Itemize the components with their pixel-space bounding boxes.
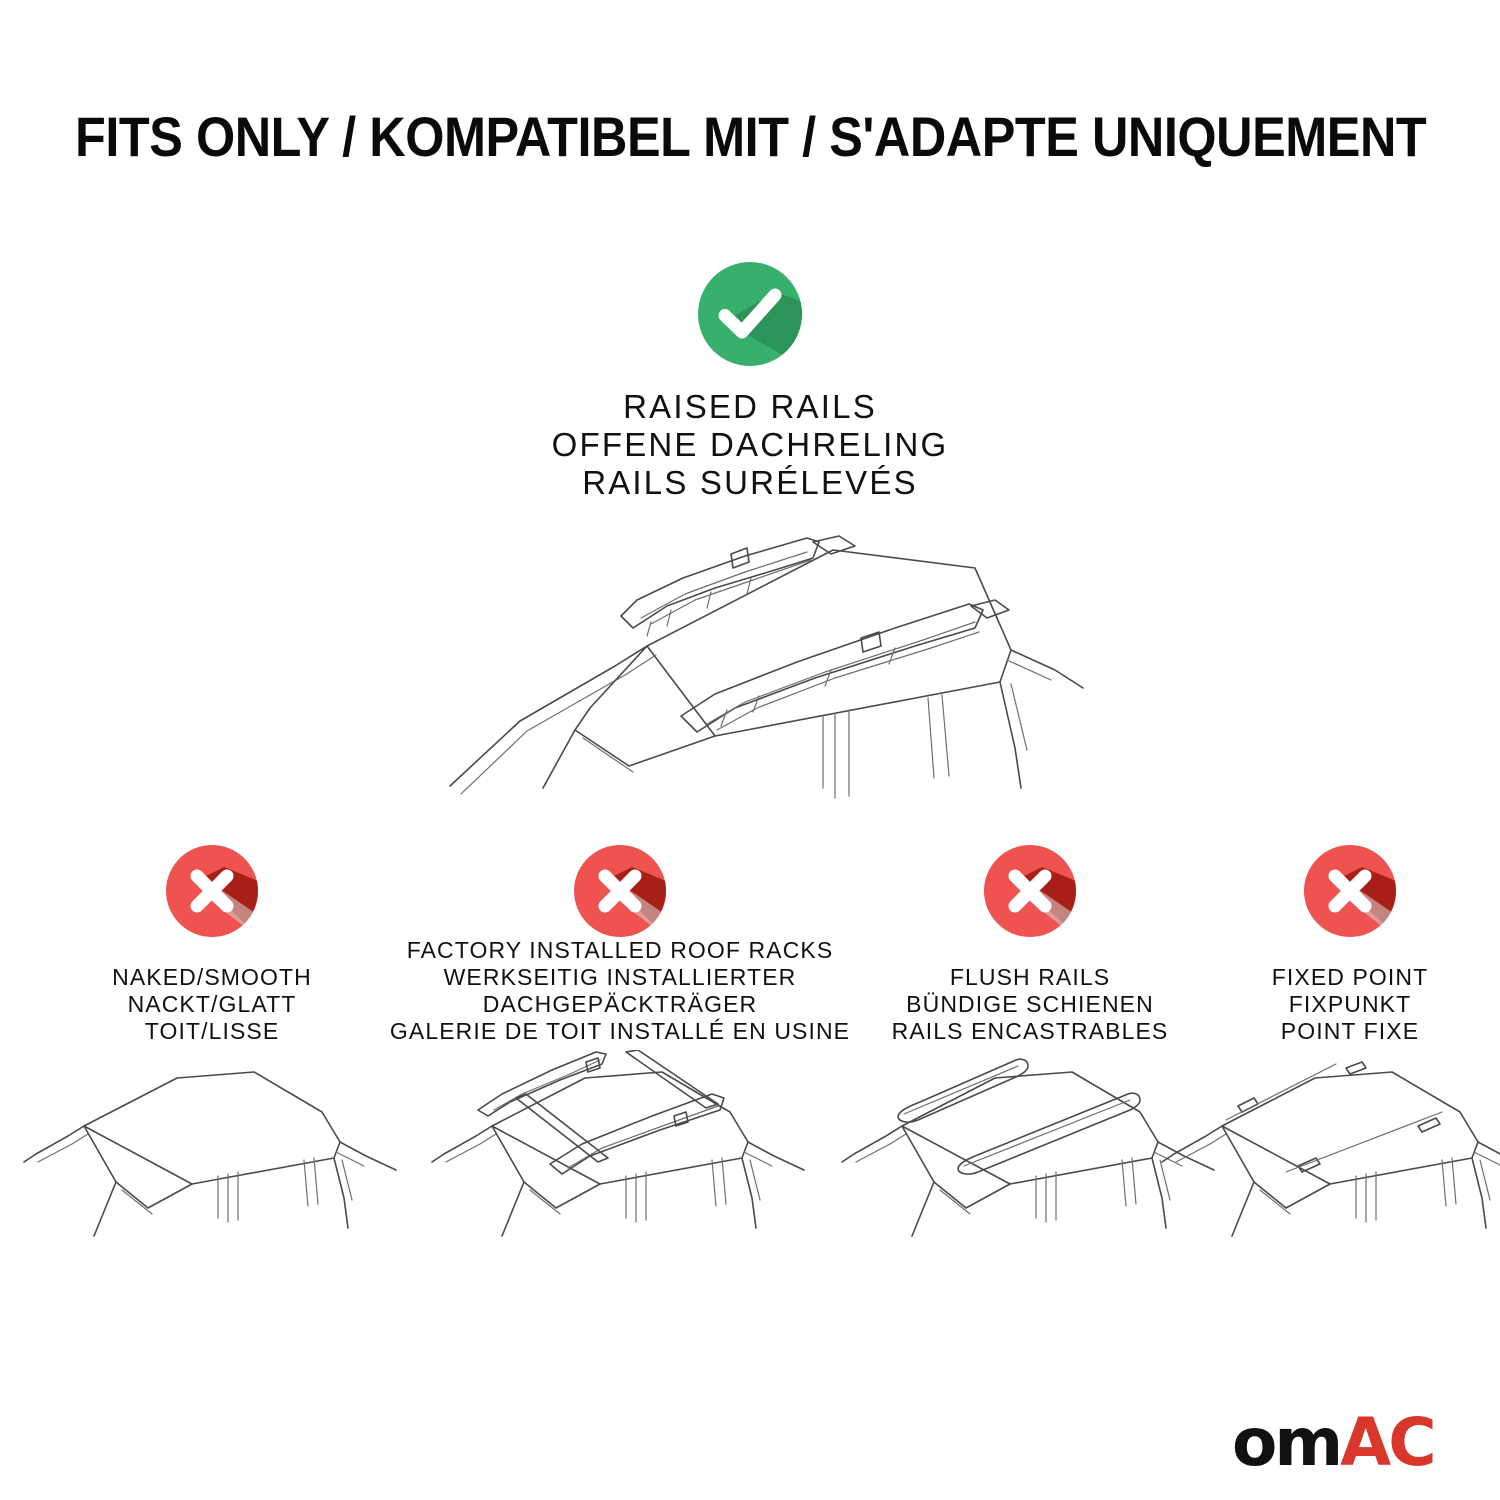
- check-circle-icon: [698, 262, 802, 366]
- omac-logo-black-part: om: [1232, 1404, 1340, 1481]
- omac-logo: omAC: [1232, 1408, 1482, 1488]
- car-roof-fixed-point-figure: [1160, 1050, 1500, 1290]
- caption-line-1: FLUSH RAILS: [950, 964, 1110, 991]
- caption-line-2: FIXPUNKT: [1289, 991, 1412, 1018]
- check-circle-artwork: [698, 262, 802, 366]
- car-roof-naked-smooth-figure: [22, 1050, 402, 1290]
- caption-line-2: BÜNDIGE SCHIENEN: [906, 991, 1154, 1018]
- caption-line-4: GALERIE DE TOIT INSTALLÉ EN USINE: [390, 1018, 850, 1045]
- caption-line-3: TOIT/LISSE: [145, 1018, 280, 1045]
- caption-line-3: DACHGEPÄCKTRÄGER: [483, 991, 757, 1018]
- not-fitting-column-naked-smooth: NAKED/SMOOTH NACKT/GLATT TOIT/LISSE: [22, 845, 402, 937]
- not-fitting-column-factory-racks: FACTORY INSTALLED ROOF RACKS WERKSEITIG …: [430, 845, 810, 937]
- page-title: FITS ONLY / KOMPATIBEL MIT / S'ADAPTE UN…: [75, 106, 1425, 168]
- caption-line-1: NAKED/SMOOTH: [112, 964, 312, 991]
- omac-logo-text: omAC: [1232, 1408, 1482, 1478]
- not-fitting-column-flush-rails: FLUSH RAILS BÜNDIGE SCHIENEN RAILS ENCAS…: [840, 845, 1220, 937]
- car-roof-factory-roof-racks-figure: [430, 1050, 810, 1290]
- caption-line-1: FACTORY INSTALLED ROOF RACKS: [407, 937, 834, 964]
- caption-line-3: RAILS ENCASTRABLES: [892, 1018, 1169, 1045]
- caption-line-1: FIXED POINT: [1272, 964, 1429, 991]
- caption-factory-racks: FACTORY INSTALLED ROOF RACKS WERKSEITIG …: [430, 940, 810, 1045]
- approved-caption-line-3: RAILS SURÉLEVÉS: [250, 464, 1250, 502]
- not-fitting-row: NAKED/SMOOTH NACKT/GLATT TOIT/LISSE: [0, 845, 1500, 1485]
- x-circle-icon: [1304, 845, 1396, 937]
- omac-logo-red-part: AC: [1340, 1404, 1434, 1481]
- x-circle-icon: [574, 845, 666, 937]
- x-circle-artwork: [166, 845, 258, 937]
- x-circle-artwork: [984, 845, 1076, 937]
- x-circle-icon: [166, 845, 258, 937]
- not-fitting-column-fixed-point: FIXED POINT FIXPUNKT POINT FIXE: [1180, 845, 1500, 937]
- approved-caption-line-1: RAISED RAILS: [250, 388, 1250, 426]
- check-circle-background: [698, 262, 802, 366]
- car-roof-with-raised-rails-figure: [415, 498, 1085, 828]
- approved-caption: RAISED RAILS OFFENE DACHRELING RAILS SUR…: [250, 388, 1250, 502]
- caption-line-2: WERKSEITIG INSTALLIERTER: [444, 964, 797, 991]
- caption-line-3: POINT FIXE: [1281, 1018, 1419, 1045]
- caption-naked-smooth: NAKED/SMOOTH NACKT/GLATT TOIT/LISSE: [22, 940, 402, 1045]
- x-circle-artwork: [1304, 845, 1396, 937]
- caption-fixed-point: FIXED POINT FIXPUNKT POINT FIXE: [1180, 940, 1500, 1045]
- approved-caption-line-2: OFFENE DACHRELING: [250, 426, 1250, 464]
- approved-fitment-block: RAISED RAILS OFFENE DACHRELING RAILS SUR…: [250, 262, 1250, 502]
- caption-line-2: NACKT/GLATT: [128, 991, 297, 1018]
- x-circle-artwork: [574, 845, 666, 937]
- caption-flush-rails: FLUSH RAILS BÜNDIGE SCHIENEN RAILS ENCAS…: [840, 940, 1220, 1045]
- x-circle-icon: [984, 845, 1076, 937]
